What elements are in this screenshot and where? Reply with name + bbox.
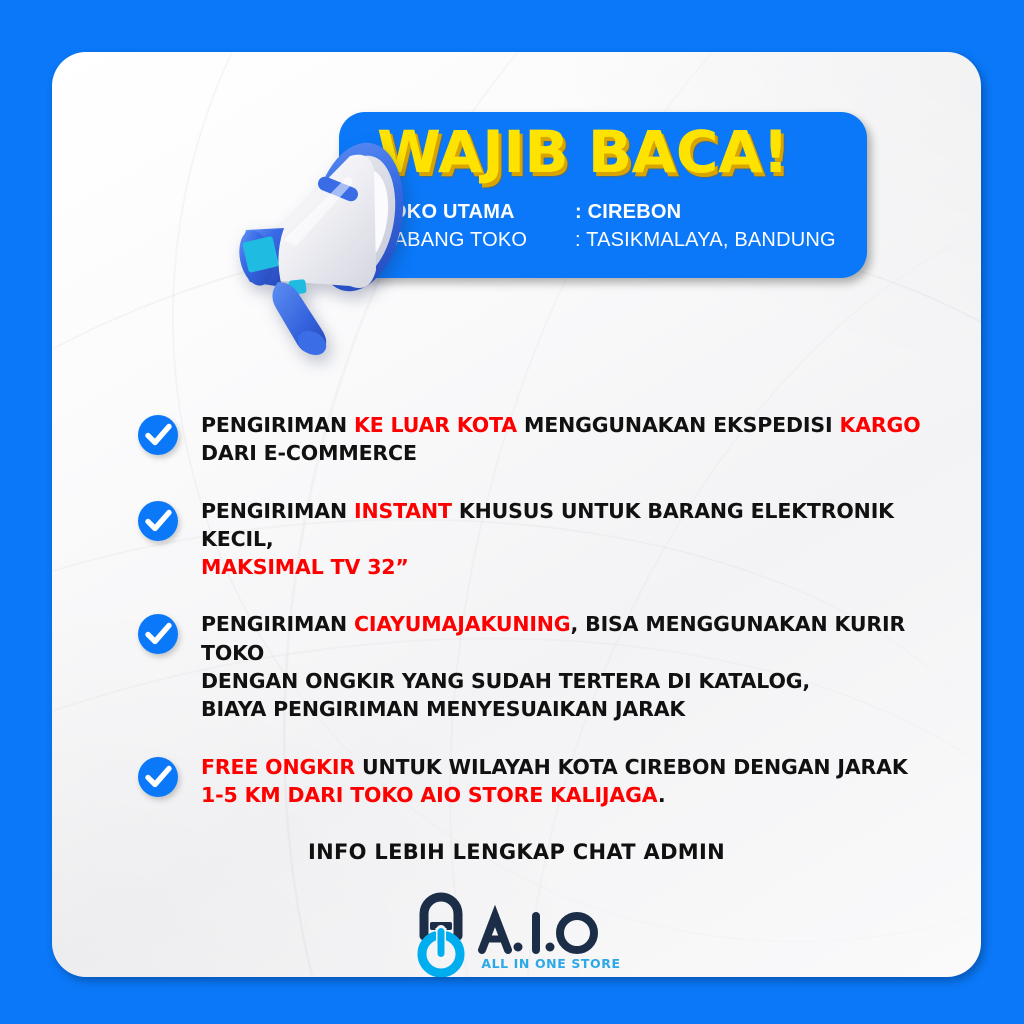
bullet-plain: DARI E-COMMERCE — [201, 441, 417, 465]
bullet-item-2: PENGIRIMAN INSTANT KHUSUS UNTUK BARANG E… — [137, 496, 957, 582]
bullet-item-4: FREE ONGKIR UNTUK WILAYAH KOTA CIREBON D… — [137, 752, 957, 810]
bullet-line: PENGIRIMAN CIAYUMAJAKUNING, BISA MENGGUN… — [201, 610, 957, 667]
bullet-item-1: PENGIRIMAN KE LUAR KOTA MENGGUNAKAN EKSP… — [137, 410, 957, 468]
logo-tagline: ALL IN ONE STORE — [481, 956, 620, 971]
footer-note: INFO LEBIH LENGKAP CHAT ADMIN — [52, 840, 981, 864]
aio-wordmark — [482, 916, 594, 950]
bullet-plain: DENGAN ONGKIR YANG SUDAH TERTERA DI KATA… — [201, 669, 810, 693]
store-info-row-main: TOKO UTAMA : CIREBON — [379, 198, 836, 226]
bullet-line: DARI E-COMMERCE — [201, 439, 921, 467]
bullet-line: PENGIRIMAN INSTANT KHUSUS UNTUK BARANG E… — [201, 497, 957, 554]
check-circle-icon — [137, 613, 179, 655]
bullet-line: MAKSIMAL TV 32” — [201, 553, 957, 581]
bullet-item-3: PENGIRIMAN CIAYUMAJAKUNING, BISA MENGGUN… — [137, 609, 957, 723]
bullet-text: PENGIRIMAN CIAYUMAJAKUNING, BISA MENGGUN… — [201, 609, 957, 723]
check-circle-icon — [137, 414, 179, 456]
bullet-highlight: FREE ONGKIR — [201, 755, 355, 779]
bullet-plain: PENGIRIMAN — [201, 499, 354, 523]
bullet-plain: PENGIRIMAN — [201, 612, 354, 636]
bullet-line: 1-5 KM DARI TOKO AIO STORE KALIJAGA. — [201, 781, 908, 809]
store-info-list: TOKO UTAMA : CIREBON CABANG TOKO : TASIK… — [379, 198, 836, 255]
bullet-highlight: KARGO — [839, 413, 920, 437]
bullet-highlight: MAKSIMAL TV 32” — [201, 555, 409, 579]
bullet-text: FREE ONGKIR UNTUK WILAYAH KOTA CIREBON D… — [201, 752, 908, 810]
store-info-row-branch: CABANG TOKO : TASIKMALAYA, BANDUNG — [379, 226, 836, 254]
bullet-plain: PENGIRIMAN — [201, 413, 354, 437]
bullet-highlight: 1-5 KM DARI TOKO AIO STORE KALIJAGA — [201, 783, 658, 807]
megaphone-icon — [200, 130, 440, 355]
bullet-plain: MENGGUNAKAN EKSPEDISI — [517, 413, 839, 437]
store-info-value: : CIREBON — [575, 198, 681, 226]
bullet-list: PENGIRIMAN KE LUAR KOTA MENGGUNAKAN EKSP… — [137, 410, 957, 837]
bullet-text: PENGIRIMAN INSTANT KHUSUS UNTUK BARANG E… — [201, 496, 957, 582]
bullet-line: PENGIRIMAN KE LUAR KOTA MENGGUNAKAN EKSP… — [201, 411, 921, 439]
poster-canvas: WAJIB BACA! TOKO UTAMA : CIREBON CABANG … — [0, 0, 1024, 1024]
check-circle-icon — [137, 756, 179, 798]
bullet-highlight: INSTANT — [354, 499, 452, 523]
bullet-plain: BIAYA PENGIRIMAN MENYESUAIKAN JARAK — [201, 697, 685, 721]
bullet-highlight: KE LUAR KOTA — [354, 413, 517, 437]
bullet-line: FREE ONGKIR UNTUK WILAYAH KOTA CIREBON D… — [201, 753, 908, 781]
bullet-line: BIAYA PENGIRIMAN MENYESUAIKAN JARAK — [201, 695, 957, 723]
content-card: WAJIB BACA! TOKO UTAMA : CIREBON CABANG … — [52, 52, 981, 977]
aio-power-a-icon — [422, 897, 460, 973]
aio-logo: ALL IN ONE STORE — [410, 892, 624, 977]
bullet-plain: UNTUK WILAYAH KOTA CIREBON DENGAN JARAK — [355, 755, 908, 779]
store-info-value: : TASIKMALAYA, BANDUNG — [575, 226, 836, 254]
check-circle-icon — [137, 500, 179, 542]
bullet-text: PENGIRIMAN KE LUAR KOTA MENGGUNAKAN EKSP… — [201, 410, 921, 468]
bullet-line: DENGAN ONGKIR YANG SUDAH TERTERA DI KATA… — [201, 667, 957, 695]
bullet-plain: . — [658, 783, 666, 807]
bullet-highlight: CIAYUMAJAKUNING — [354, 612, 571, 636]
